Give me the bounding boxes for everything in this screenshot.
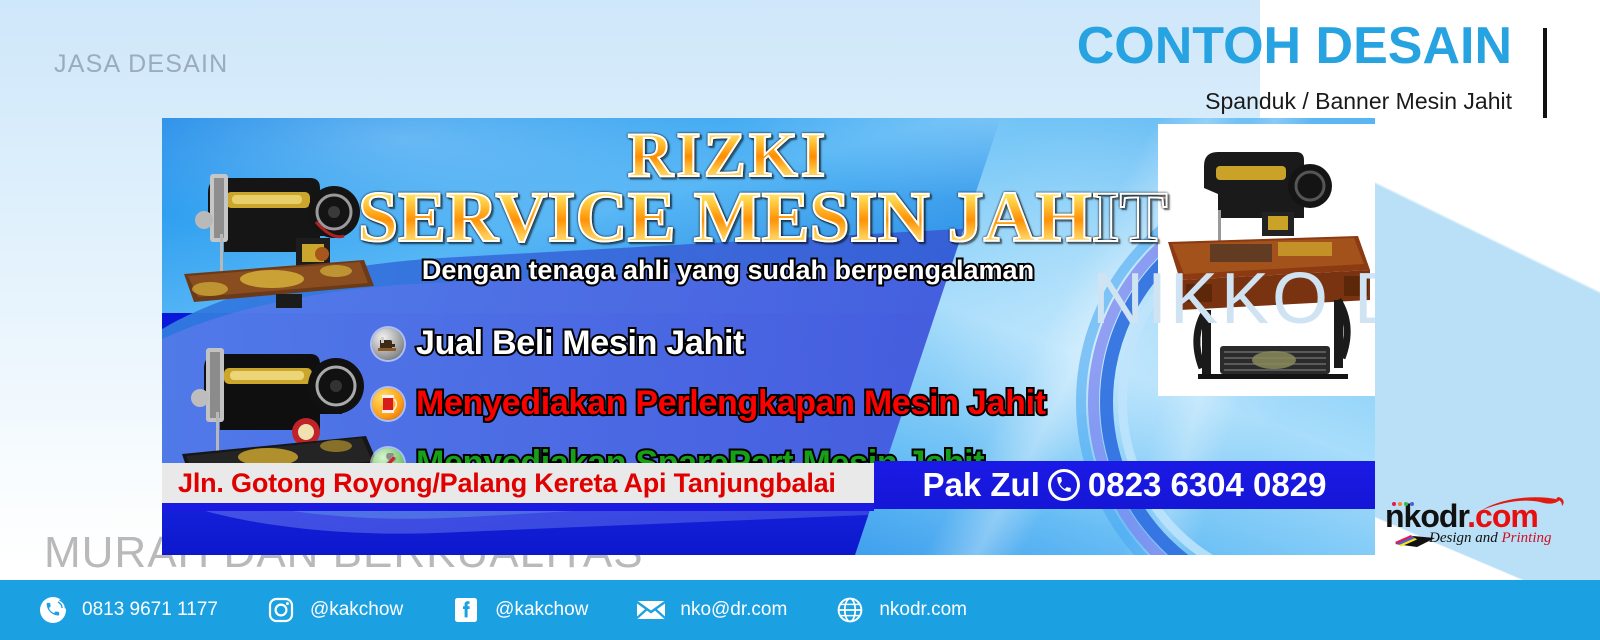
facebook-icon (451, 595, 481, 625)
banner-headline: SERVICE MESIN JAHIT (358, 181, 1098, 253)
logo-tagline: Design and Printing (1429, 530, 1552, 547)
banner-headline-block: RIZKI SERVICE MESIN JAHIT Dengan tenaga … (358, 124, 1098, 286)
phone-icon (38, 595, 68, 625)
banner-artwork: NIKKO DESAIN (162, 118, 1375, 555)
phone-icon (1048, 469, 1080, 501)
logo-dot: . (1467, 498, 1475, 534)
logo-swoosh-icon (1480, 496, 1566, 523)
footer-item-phone[interactable]: 0813 9671 1177 (38, 595, 218, 625)
service-item: Menyediakan Perlengkapan Mesin Jahit (372, 376, 1272, 431)
sewing-machine-icon (372, 328, 404, 360)
contact-name: Pak Zul (923, 466, 1040, 504)
nkodr-logo: nkodr.com Design and Printing (1385, 500, 1585, 562)
logo-tag-printing: Printing (1502, 530, 1552, 546)
contact-phone: 0823 6304 0829 (1088, 466, 1327, 504)
banner-tagline: Dengan tenaga ahli yang sudah berpengala… (358, 255, 1098, 286)
thread-spool-icon (372, 388, 404, 420)
footer-item-email[interactable]: nko@dr.com (636, 595, 787, 625)
logo-tag-and: and (1475, 530, 1498, 546)
logo-color-dots (1392, 502, 1414, 506)
contact-block: Pak Zul 0823 6304 0829 (923, 466, 1327, 504)
phone-strip: Pak Zul 0823 6304 0829 (874, 461, 1375, 509)
footer-instagram-label: @kakchow (310, 599, 403, 621)
footer-website-label: nkodr.com (879, 599, 967, 621)
service-item-label: Menyediakan Perlengkapan Mesin Jahit (416, 384, 1046, 423)
footer-phone-label: 0813 9671 1177 (82, 599, 218, 621)
address-text: Jln. Gotong Royong/Palang Kereta Api Tan… (162, 468, 836, 499)
service-item-label: Jual Beli Mesin Jahit (416, 324, 744, 363)
address-underline (162, 503, 874, 511)
sewing-machine-photo-top (176, 134, 386, 324)
nikko-desain-watermark: NIKKO DESAIN (1092, 258, 1375, 340)
jasa-desain-label: JASA DESAIN (54, 50, 228, 79)
header-vertical-rule (1543, 28, 1547, 118)
footer-item-website[interactable]: nkodr.com (835, 595, 967, 625)
footer-email-label: nko@dr.com (680, 599, 787, 621)
globe-icon (835, 595, 865, 625)
email-icon (636, 595, 666, 625)
page-title: CONTOH DESAIN (1077, 16, 1512, 76)
footer-facebook-label: @kakchow (495, 599, 588, 621)
footer-contact-bar: 0813 9671 1177 @kakchow @kakchow (0, 580, 1600, 640)
footer-item-instagram[interactable]: @kakchow (266, 595, 403, 625)
instagram-icon (266, 595, 296, 625)
page-subtitle: Spanduk / Banner Mesin Jahit (1205, 88, 1512, 115)
footer-item-facebook[interactable]: @kakchow (451, 595, 588, 625)
logo-tag-design: Design (1429, 530, 1472, 546)
address-strip: Jln. Gotong Royong/Palang Kereta Api Tan… (162, 463, 874, 503)
